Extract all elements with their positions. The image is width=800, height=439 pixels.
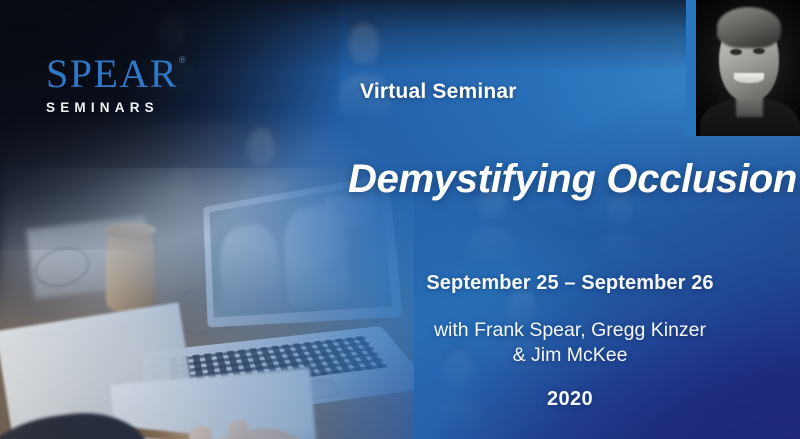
speaker-headshot-photo [696, 0, 800, 136]
presenters-line-1: with Frank Spear, Gregg Kinzer [370, 318, 770, 343]
eyebrow-label: Virtual Seminar [360, 80, 517, 104]
seminar-dates: September 25 – September 26 [370, 272, 770, 295]
seminar-details: September 25 – September 26 with Frank S… [370, 272, 770, 411]
headshot-eye [753, 48, 764, 54]
speaker-headshot-inset [686, 0, 800, 136]
registered-trademark-icon: ® [179, 56, 187, 65]
page-title: Demystifying Occlusion [348, 157, 788, 202]
presenters: with Frank Spear, Gregg Kinzer & Jim McK… [370, 318, 770, 368]
presenters-line-2: & Jim McKee [370, 343, 770, 368]
headshot-eye [730, 49, 741, 55]
headshot-smile [734, 73, 763, 83]
logo-wordmark: SPEAR® [46, 54, 246, 93]
spear-seminars-logo: SPEAR® SEMINARS [46, 54, 246, 115]
seminar-year: 2020 [370, 388, 770, 411]
seminar-title-slide: SPEAR® SEMINARS Virtual Seminar Demystif… [0, 0, 800, 439]
logo-sub-wordmark: SEMINARS [46, 100, 246, 115]
headshot-hair [717, 7, 781, 48]
logo-wordmark-text: SPEAR [46, 51, 178, 96]
